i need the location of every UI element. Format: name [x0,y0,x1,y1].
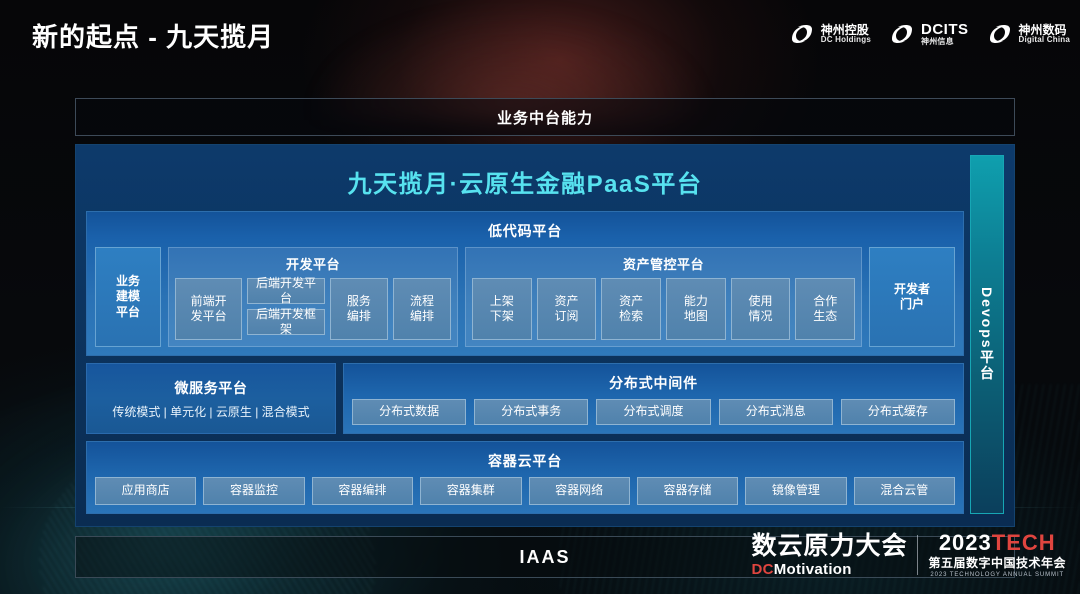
event-name-en-white: Motivation [774,561,852,578]
tile-capability-map[interactable]: 能力 地图 [666,278,726,340]
tile-asset-subscription[interactable]: 资产 订阅 [537,278,597,340]
swirl-mark-icon [789,23,815,45]
container-cloud-title: 容器云平台 [95,448,955,477]
event-brand: 数云原力大会 DCMotivation [751,534,907,577]
asset-control-body: 上架 下架 资产 订阅 资产 检索 能力 地图 使用 情况 合作 生态 [472,278,855,340]
lowcode-body: 业务 建模 平台 开发平台 前端开 发平台 后端开发平台 后端开发框架 服务 编… [95,247,955,347]
dev-platform-title: 开发平台 [175,252,451,278]
event-year-tech: 2023TECH [939,532,1056,554]
tile-backend-dev-framework[interactable]: 后端开发框架 [247,309,324,335]
tile-distributed-messaging[interactable]: 分布式消息 [719,399,833,425]
tile-backend-dev-platform[interactable]: 后端开发平台 [247,278,324,304]
swirl-mark-icon [889,23,915,45]
tile-app-store[interactable]: 应用商店 [95,477,196,505]
event-summit-cn: 第五届数字中国技术年会 [928,557,1066,569]
container-cloud-panel: 容器云平台 应用商店 容器监控 容器编排 容器集群 容器网络 容器存储 镜像管理… [86,441,964,514]
lowcode-platform-panel: 低代码平台 业务 建模 平台 开发平台 前端开 发平台 后端开发平台 后端开发框… [86,211,964,356]
devops-label: Devops平台 [977,287,997,382]
event-summit: 2023TECH 第五届数字中国技术年会 2023 TECHNOLOGY ANN… [928,532,1066,578]
slide-root: 新的起点 - 九天揽月 神州控股 DC Holdings [0,0,1080,594]
asset-control-title: 资产管控平台 [472,252,855,278]
paas-platform-panel: 九天揽月·云原生金融PaaS平台 低代码平台 业务 建模 平台 开发平台 前端开… [75,144,1015,527]
tile-distributed-transaction[interactable]: 分布式事务 [474,399,588,425]
iaas-label: IAAS [519,547,570,568]
event-name-cn: 数云原力大会 [751,534,907,559]
tile-distributed-cache[interactable]: 分布式缓存 [841,399,955,425]
event-name-en-red: DC [751,561,773,578]
page-title: 新的起点 - 九天揽月 [32,17,274,54]
paas-content: 九天揽月·云原生金融PaaS平台 低代码平台 业务 建模 平台 开发平台 前端开… [86,155,964,514]
tile-container-cluster[interactable]: 容器集群 [420,477,521,505]
logo-label-en: 神州信息 [921,38,969,46]
tile-business-modeling-platform[interactable]: 业务 建模 平台 [95,247,161,347]
event-name-en: DCMotivation [751,562,851,577]
event-tech: TECH [992,530,1056,555]
distributed-middleware-panel: 分布式中间件 分布式数据 分布式事务 分布式调度 分布式消息 分布式缓存 [343,363,964,434]
logo-label-en: Digital China [1019,36,1071,44]
tile-container-orchestration[interactable]: 容器编排 [312,477,413,505]
backend-stack: 后端开发平台 后端开发框架 [247,278,324,340]
digital-china-logo: 神州数码 Digital China [987,23,1071,45]
architecture-diagram: 业务中台能力 九天揽月·云原生金融PaaS平台 低代码平台 业务 建模 平台 开… [75,98,1015,578]
tile-hybrid-cloud-management[interactable]: 混合云管 [854,477,955,505]
logo-label-en: DC Holdings [821,36,871,44]
paas-title: 九天揽月·云原生金融PaaS平台 [86,155,964,211]
dev-platform-group: 开发平台 前端开 发平台 后端开发平台 后端开发框架 服务 编排 流程 编排 [168,247,458,347]
microservice-subtitle: 传统模式 | 单元化 | 云原生 | 混合模式 [112,403,309,420]
logo-bar: 神州控股 DC Holdings DCITS 神州信息 [789,22,1070,46]
microservice-platform-panel[interactable]: 微服务平台 传统模式 | 单元化 | 云原生 | 混合模式 [86,363,336,434]
microservice-title: 微服务平台 [175,378,248,398]
tile-container-storage[interactable]: 容器存储 [637,477,738,505]
tile-flow-orchestration[interactable]: 流程 编排 [393,278,451,340]
middleware-row: 微服务平台 传统模式 | 单元化 | 云原生 | 混合模式 分布式中间件 分布式… [86,363,964,434]
container-cloud-tiles: 应用商店 容器监控 容器编排 容器集群 容器网络 容器存储 镜像管理 混合云管 [95,477,955,505]
tile-frontend-dev-platform[interactable]: 前端开 发平台 [175,278,242,340]
tile-partner-ecosystem[interactable]: 合作 生态 [795,278,855,340]
tile-image-management[interactable]: 镜像管理 [745,477,846,505]
tile-asset-listing[interactable]: 上架 下架 [472,278,532,340]
event-year: 2023 [939,530,992,555]
asset-control-group: 资产管控平台 上架 下架 资产 订阅 资产 检索 能力 地图 使用 情况 合作 … [465,247,862,347]
tile-service-orchestration[interactable]: 服务 编排 [330,278,388,340]
event-divider [917,535,918,575]
tile-asset-search[interactable]: 资产 检索 [601,278,661,340]
tile-usage-status[interactable]: 使用 情况 [731,278,791,340]
tile-container-monitoring[interactable]: 容器监控 [203,477,304,505]
devops-platform-bar[interactable]: Devops平台 [970,155,1004,514]
tile-distributed-scheduling[interactable]: 分布式调度 [596,399,710,425]
dc-holdings-logo: 神州控股 DC Holdings [789,23,871,45]
header: 新的起点 - 九天揽月 神州控股 DC Holdings [0,0,1080,74]
band-business-middle-platform: 业务中台能力 [75,98,1015,136]
tile-distributed-data[interactable]: 分布式数据 [352,399,466,425]
event-summit-en: 2023 TECHNOLOGY ANNUAL SUMMIT [930,572,1064,578]
event-logo: 数云原力大会 DCMotivation 2023TECH 第五届数字中国技术年会… [751,532,1066,578]
middleware-tiles: 分布式数据 分布式事务 分布式调度 分布式消息 分布式缓存 [352,399,955,425]
tile-container-network[interactable]: 容器网络 [529,477,630,505]
band-label: 业务中台能力 [497,107,593,128]
tile-developer-portal[interactable]: 开发者 门户 [869,247,955,347]
middleware-title: 分布式中间件 [352,370,955,399]
logo-label-cn: DCITS [921,22,969,38]
dev-platform-body: 前端开 发平台 后端开发平台 后端开发框架 服务 编排 流程 编排 [175,278,451,340]
lowcode-title: 低代码平台 [95,218,955,247]
dcits-logo: DCITS 神州信息 [889,22,969,46]
swirl-mark-icon [987,23,1013,45]
